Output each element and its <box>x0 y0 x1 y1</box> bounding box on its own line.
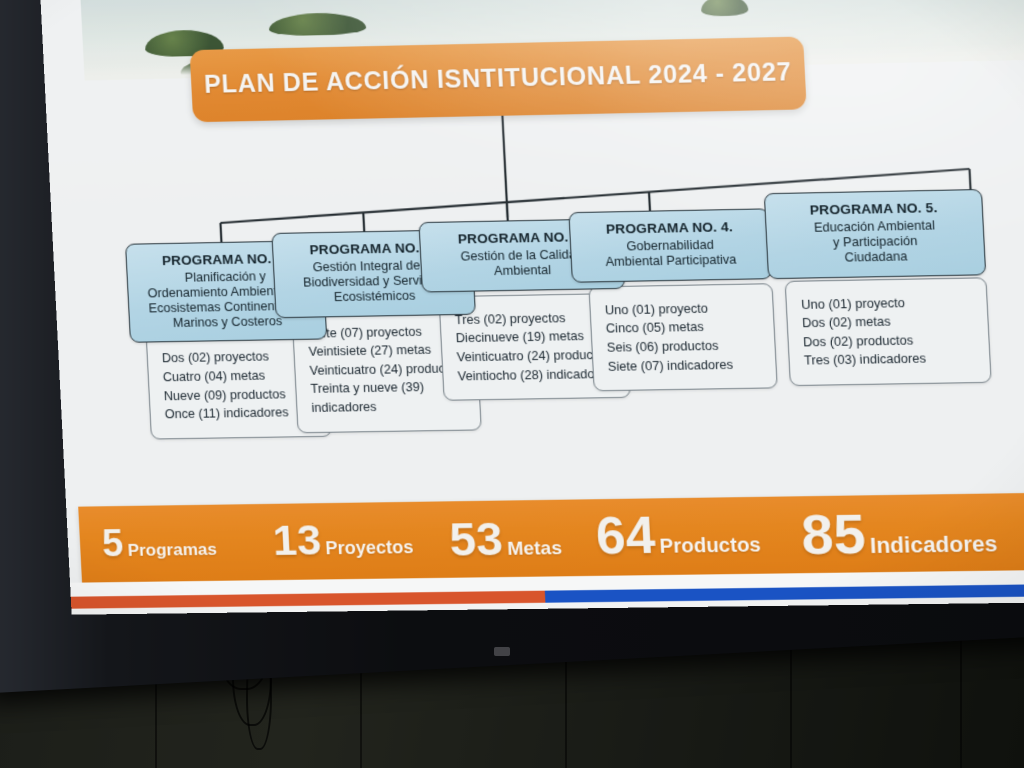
kpi-number: 85 <box>800 508 867 561</box>
kpi-label: Proyectos <box>325 537 414 559</box>
kpi-label: Programas <box>127 539 217 560</box>
kpi-label: Indicadores <box>869 531 998 559</box>
metric-indicators: Tres (03) indicadores <box>804 349 980 371</box>
page-title: PLAN DE ACCIÓN ISNTITUCIONAL 2024 - 2027 <box>204 58 793 100</box>
kpi-number: 64 <box>595 513 656 562</box>
program-header: PROGRAMA NO. 4. Gobernabilidad Ambiental… <box>568 208 772 282</box>
kpi-number: 53 <box>448 517 503 561</box>
kpi-number: 13 <box>272 521 322 561</box>
kpi-metas: 53 Metas <box>448 516 562 562</box>
program-header: PROGRAMA NO. 5. Educación Ambiental y Pa… <box>764 189 986 279</box>
mangrove-islet <box>700 0 748 16</box>
summary-kpi-bar: 5 Programas 13 Proyectos 53 Metas 64 Pro… <box>78 491 1024 582</box>
presentation-screen: PROGRAMA NO. 1. Planificación y Ordenami… <box>39 0 1024 615</box>
program-name-line: Ciudadana <box>776 248 976 267</box>
kpi-label: Metas <box>507 538 563 561</box>
kpi-indicadores: 85 Indicadores <box>800 506 998 561</box>
program-name: Gobernabilidad Ambiental Participativa <box>579 237 762 270</box>
program-metrics: Uno (01) proyecto Cinco (05) metas Seis … <box>588 283 777 392</box>
program-card-5[interactable]: PROGRAMA NO. 5. Educación Ambiental y Pa… <box>764 189 992 386</box>
kpi-proyectos: 13 Proyectos <box>272 520 414 562</box>
program-metrics: Uno (01) proyecto Dos (02) metas Dos (02… <box>785 277 992 386</box>
slide-title-banner: PLAN DE ACCIÓN ISNTITUCIONAL 2024 - 2027 <box>190 36 807 122</box>
kpi-programas: 5 Programas <box>101 525 217 562</box>
slide-canvas: PROGRAMA NO. 1. Planificación y Ordenami… <box>39 0 1024 615</box>
tv-bezel: PROGRAMA NO. 1. Planificación y Ordenami… <box>0 0 1024 693</box>
program-name: Educación Ambiental y Participación Ciud… <box>774 218 976 267</box>
metric-indicators: Siete (07) indicadores <box>607 355 765 376</box>
program-number-label: PROGRAMA NO. 5. <box>774 199 974 218</box>
kpi-label: Productos <box>659 534 761 559</box>
room-photo-scene: PROGRAMA NO. 1. Planificación y Ordenami… <box>0 0 1024 768</box>
program-card-4[interactable]: PROGRAMA NO. 4. Gobernabilidad Ambiental… <box>568 208 777 391</box>
kpi-productos: 64 Productos <box>595 511 762 562</box>
program-name-line: Ambiental Participativa <box>580 252 763 270</box>
kpi-number: 5 <box>101 527 124 562</box>
lg-logo <box>494 647 510 656</box>
program-number-label: PROGRAMA NO. 4. <box>578 219 761 238</box>
